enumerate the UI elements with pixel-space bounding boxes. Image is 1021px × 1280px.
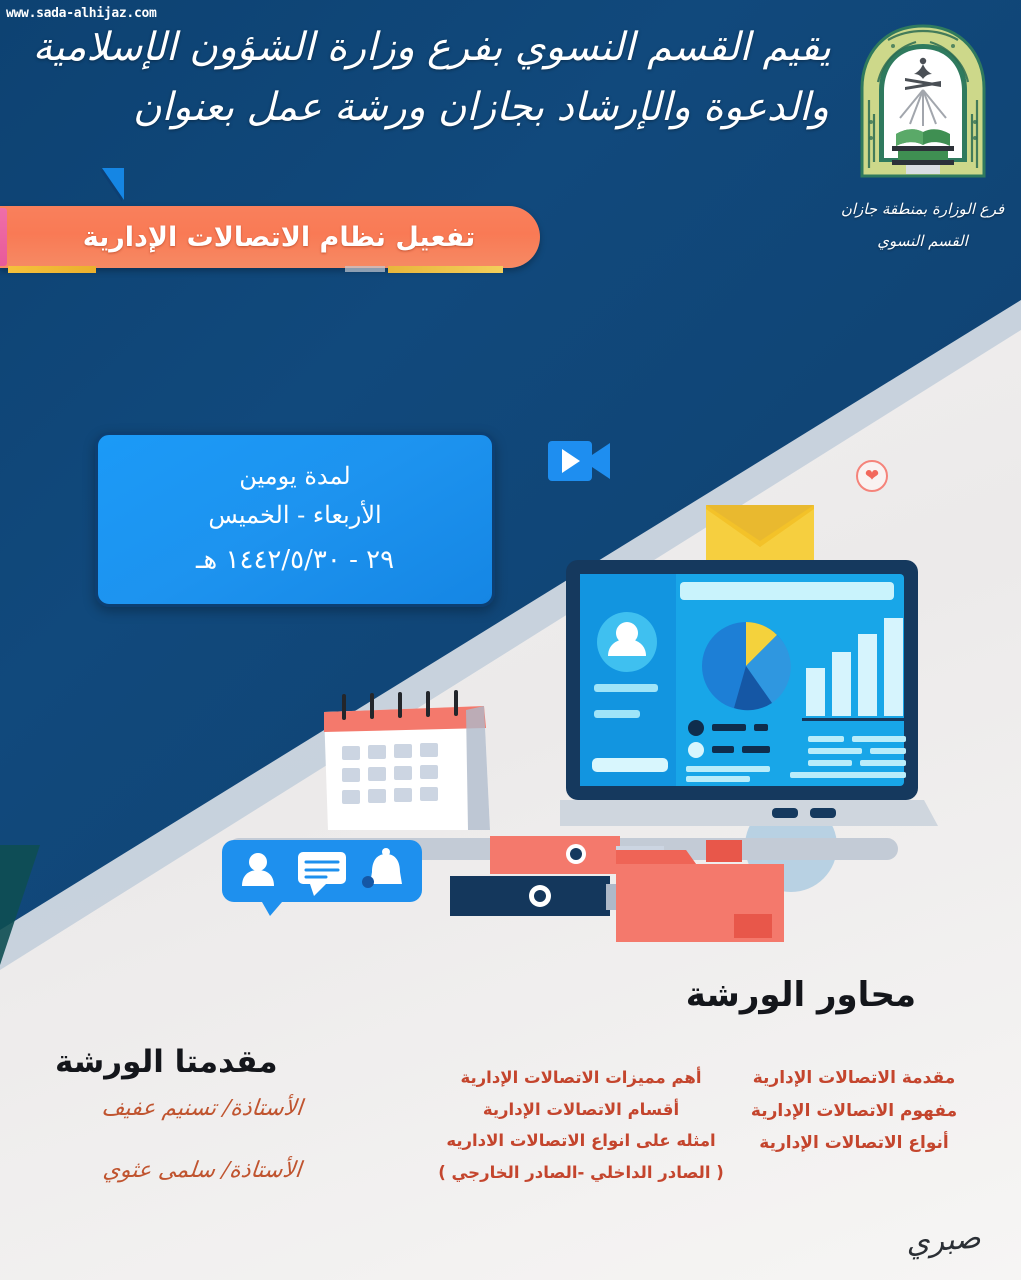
logo-caption-department: القسم النسوي xyxy=(840,228,1005,254)
topic-item: أقسام الاتصالات الإدارية xyxy=(431,1094,731,1126)
banner-underline-right xyxy=(388,266,503,273)
presenter-name: الأستاذة/ تسنيم عفيف xyxy=(51,1098,353,1120)
workshop-poster: www.sada-alhijaz.com يقيم القسم النسوي ب… xyxy=(0,0,1021,1280)
topics-column-middle: أهم مميزات الاتصالات الإدارية أقسام الات… xyxy=(431,1062,731,1189)
workshop-title: تفعيل نظام الاتصالات الإدارية xyxy=(0,206,540,268)
presenter-name: الأستاذة/ سلمى عثوي xyxy=(51,1160,353,1182)
laptop-dashboard xyxy=(560,560,960,850)
banner-underline-left xyxy=(8,266,96,273)
poster-header: يقيم القسم النسوي بفرع وزارة الشؤون الإس… xyxy=(131,18,831,139)
calendar-icon xyxy=(318,690,506,840)
presenters-heading: مقدمتا الورشة xyxy=(55,1044,278,1080)
ministry-emblem-icon xyxy=(848,22,998,190)
logo-caption-branch: فرع الوزارة بمنطقة جازان xyxy=(840,196,1005,222)
speech-bubble-content: لمدة يومين الأربعاء - الخميس ٢٩ - ١٤٤٢/٥… xyxy=(95,432,495,607)
header-line-1: يقيم القسم النسوي بفرع وزارة الشؤون الإس… xyxy=(131,18,831,78)
ministry-logo: فرع الوزارة بمنطقة جازان القسم النسوي xyxy=(840,22,1005,255)
topic-item: مفهوم الاتصالات الإدارية xyxy=(729,1095,979,1128)
topic-item: امثله على انواع الاتصالات الاداريه xyxy=(431,1125,731,1157)
heart-icon: ❤ xyxy=(856,460,888,492)
presenters-list: الأستاذة/ تسنيم عفيف الأستاذة/ سلمى عثوي xyxy=(52,1098,352,1222)
folder-icon xyxy=(610,838,790,948)
topic-item: مقدمة الاتصالات الإدارية xyxy=(729,1062,979,1095)
topics-column-right: مقدمة الاتصالات الإدارية مفهوم الاتصالات… xyxy=(729,1062,979,1160)
site-watermark: www.sada-alhijaz.com xyxy=(6,6,157,21)
banner-underline-grey xyxy=(345,266,385,272)
notification-toolbar xyxy=(222,840,422,918)
video-camera-icon xyxy=(548,435,612,487)
topics-heading: محاور الورشة xyxy=(686,975,916,1015)
hijri-date-text: ٢٩ - ١٤٤٢/٥/٣٠ هـ xyxy=(196,542,394,580)
header-line-2: والدعوة والإرشاد بجازان ورشة عمل بعنوان xyxy=(131,78,831,138)
topic-item: أنواع الاتصالات الإدارية xyxy=(729,1127,979,1160)
topic-item: أهم مميزات الاتصالات الإدارية xyxy=(431,1062,731,1094)
date-speech-bubble: لمدة يومين الأربعاء - الخميس ٢٩ - ١٤٤٢/٥… xyxy=(95,432,495,607)
topic-item: ( الصادر الداخلي -الصادر الخارجي ) xyxy=(431,1157,731,1189)
handwritten-signature: صبري xyxy=(905,1220,982,1260)
speech-bubble-tail xyxy=(102,168,124,200)
days-text: الأربعاء - الخميس xyxy=(208,498,381,533)
workshop-title-banner: تفعيل نظام الاتصالات الإدارية xyxy=(0,206,540,268)
duration-text: لمدة يومين xyxy=(239,459,350,494)
